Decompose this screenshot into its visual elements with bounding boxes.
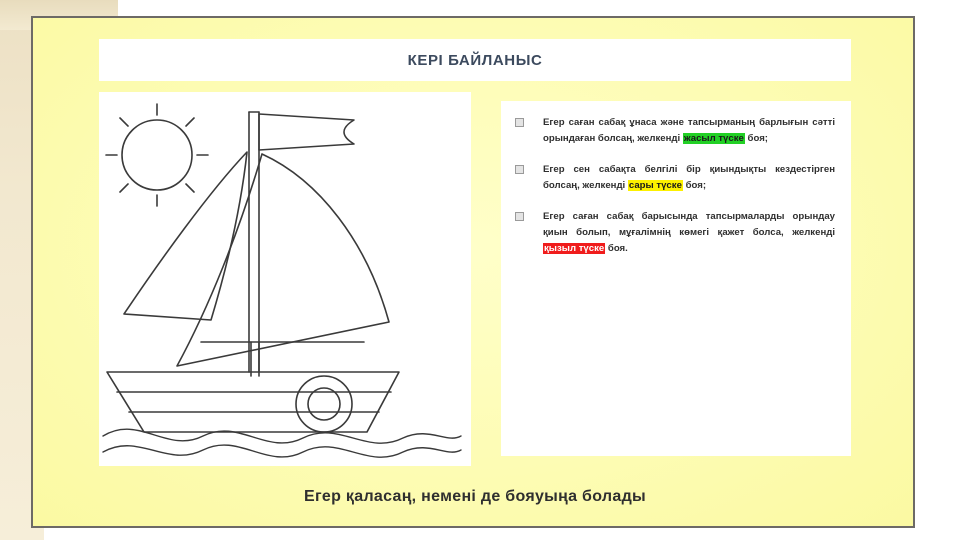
slide-frame: КЕРІ БАЙЛАНЫС (31, 16, 915, 528)
highlight-yellow: сары түске (628, 180, 683, 191)
bullet-text-after: боя; (683, 180, 706, 191)
boat-hull (107, 372, 399, 432)
square-bullet-icon (515, 165, 524, 174)
sun-ray (186, 184, 194, 192)
bullet-text-after: боя; (745, 133, 768, 144)
highlight-red: қызыл түске (543, 243, 605, 254)
main-sail (177, 154, 389, 366)
sailboat-illustration (99, 92, 471, 466)
sun-ray (120, 184, 128, 192)
square-bullet-icon (515, 212, 524, 221)
bullet-text-before: Егер саған сабақ барысында тапсырмаларды… (543, 211, 835, 238)
illustration-panel (99, 92, 471, 466)
bullet-text: Егер саған сабақ барысында тапсырмаларды… (543, 209, 835, 256)
sun-icon (122, 120, 192, 190)
bullet-text: Егер саған сабақ ұнаса және тапсырманың … (543, 115, 835, 146)
bullet-text: Егер сен сабақта белгілі бір қиындықты к… (543, 162, 835, 193)
flag (259, 114, 354, 150)
square-bullet-icon (515, 118, 524, 127)
list-item: Егер саған сабақ барысында тапсырмаларды… (515, 209, 835, 256)
life-ring-icon (296, 376, 352, 432)
front-sail (124, 152, 247, 320)
list-item: Егер сен сабақта белгілі бір қиындықты к… (515, 162, 835, 193)
page-title: КЕРІ БАЙЛАНЫС (408, 52, 543, 69)
bullet-text-after: боя. (605, 243, 628, 254)
slide-caption: Егер қаласаң, немені де бояуыңа болады (99, 488, 851, 506)
highlight-green: жасыл түске (683, 133, 745, 144)
feedback-text-panel: Егер саған сабақ ұнаса және тапсырманың … (501, 101, 851, 456)
sun-ray (186, 118, 194, 126)
title-band: КЕРІ БАЙЛАНЫС (99, 39, 851, 81)
sun-ray (120, 118, 128, 126)
wave-line (103, 445, 461, 457)
list-item: Егер саған сабақ ұнаса және тапсырманың … (515, 115, 835, 146)
slide-stage: КЕРІ БАЙЛАНЫС (0, 0, 960, 540)
